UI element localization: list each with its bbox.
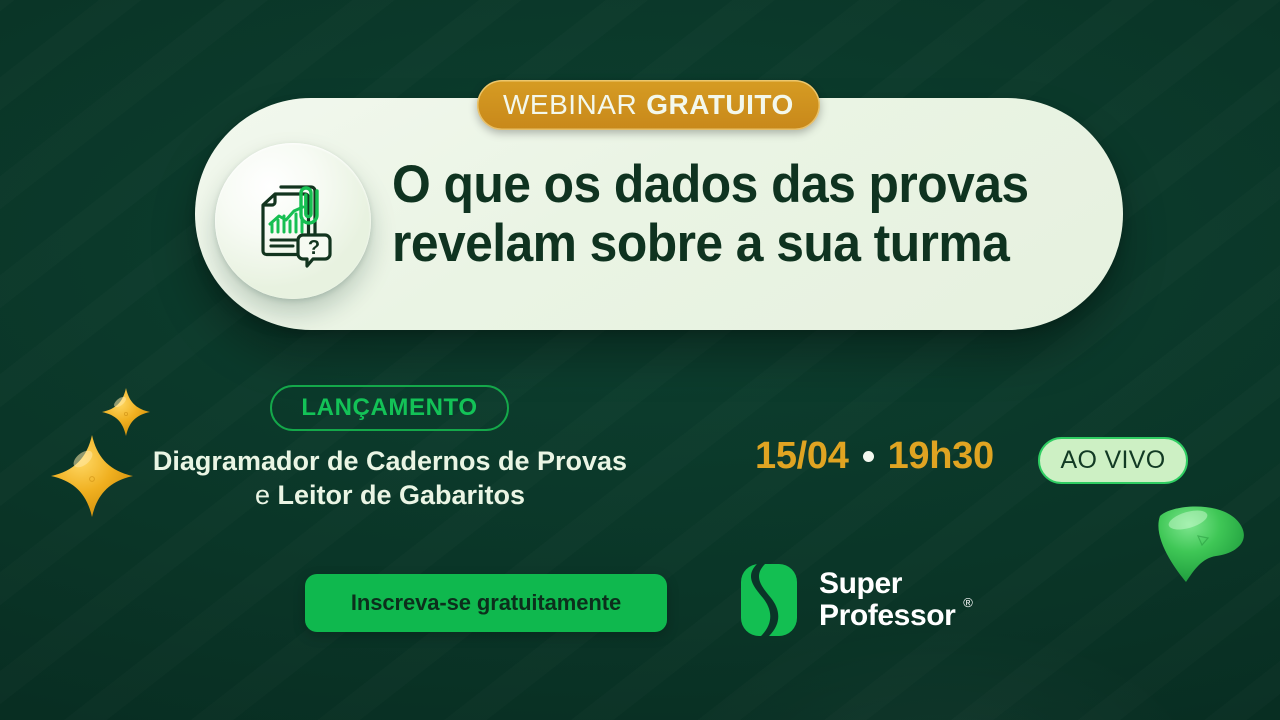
brand-logo: Super Professor ®: [735, 562, 955, 638]
brand-name-line-2: Professor: [819, 600, 955, 632]
schedule-time: 19h30: [888, 437, 994, 475]
brand-name: Super Professor ®: [819, 568, 955, 633]
svg-text:?: ?: [308, 237, 320, 259]
brand-name-line-1: Super: [819, 568, 955, 600]
sparkle-star-icon: [48, 432, 136, 520]
hero-title-line-1: O que os dados das provas: [392, 155, 1041, 214]
register-button[interactable]: Inscreva-se gratuitamente: [305, 574, 667, 632]
badge-prefix-label: WEBINAR: [503, 91, 637, 119]
schedule-separator-dot: [863, 451, 874, 462]
hero-title-line-2: revelam sobre a sua turma: [392, 214, 1041, 273]
product-names: Diagramador de Cadernos de Provas e Leit…: [130, 444, 650, 512]
launch-badge-label: LANÇAMENTO: [301, 396, 477, 420]
schedule-date: 15/04: [755, 437, 849, 475]
webinar-free-badge: WEBINAR GRATUITO: [477, 80, 820, 130]
product-conjunction: e: [255, 480, 278, 510]
hero-title: O que os dados das provas revelam sobre …: [392, 155, 1041, 274]
webinar-promo-banner: ? WEBINAR GRATUITO O que os dados das pr…: [0, 0, 1280, 720]
product-name-line-2: e Leitor de Gabaritos: [130, 478, 650, 512]
document-chart-question-icon: ?: [241, 169, 345, 273]
schedule-datetime: 15/04 19h30: [755, 437, 994, 475]
registered-trademark-mark: ®: [963, 596, 972, 610]
launch-badge: LANÇAMENTO: [270, 385, 509, 431]
live-badge-label: AO VIVO: [1061, 448, 1166, 473]
product-name-line-1: Diagramador de Cadernos de Provas: [153, 446, 627, 476]
badge-highlight-label: GRATUITO: [646, 91, 794, 119]
sparkle-star-icon: [100, 386, 152, 438]
cursor-pointer-3d-icon: [1146, 496, 1256, 592]
product-name-secondary: Leitor de Gabaritos: [277, 480, 525, 510]
super-professor-s-logo: [735, 562, 803, 638]
hero-icon-disc: ?: [215, 143, 371, 299]
live-badge: AO VIVO: [1038, 437, 1188, 484]
